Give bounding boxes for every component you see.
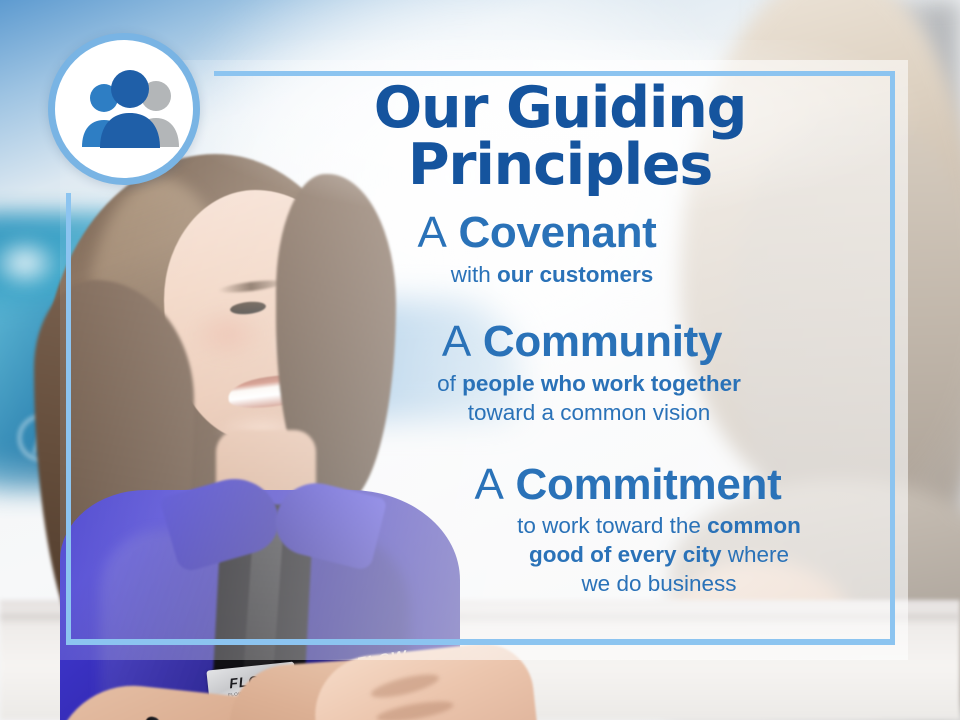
subtext-line: good of every city where <box>418 541 900 570</box>
subtext-plain: with <box>451 262 497 287</box>
people-badge <box>48 33 200 185</box>
principle-article: A <box>475 460 504 509</box>
subtext-line: of people who work together <box>278 370 900 399</box>
subtext-plain: where <box>722 542 790 567</box>
principle-keyword: Commitment <box>516 460 782 509</box>
principle-keyword: Covenant <box>458 208 656 257</box>
guiding-principles-graphic: FLOW FLOW AUTOMOTIVE FLOW <box>0 0 960 720</box>
subtext-line: toward a common vision <box>278 399 900 428</box>
subtext-emphasis: our customers <box>497 262 653 287</box>
subtext-plain: of <box>437 371 462 396</box>
principle-article: A <box>442 317 471 366</box>
text-content: Our Guiding Principles A Covenant with o… <box>200 80 900 640</box>
subtext-line: we do business <box>418 570 900 599</box>
principle-community: A Community of people who work together … <box>200 319 900 427</box>
principle-commitment: A Commitment to work toward the common g… <box>200 462 900 599</box>
subtext-emphasis: common <box>707 513 801 538</box>
principle-heading: A Covenant <box>200 210 874 257</box>
people-group-icon <box>77 68 183 148</box>
principle-subtext: to work toward the common good of every … <box>356 512 900 598</box>
principle-heading: A Community <box>264 319 900 366</box>
principle-keyword: Community <box>483 317 722 366</box>
principle-heading: A Commitment <box>356 462 900 509</box>
subtext-plain: to work toward the <box>517 513 707 538</box>
principle-article: A <box>417 208 446 257</box>
principle-subtext: with our customers <box>200 261 874 290</box>
subtext-emphasis: people who work together <box>462 371 741 396</box>
page-title: Our Guiding Principles <box>200 80 900 194</box>
principle-covenant: A Covenant with our customers <box>200 210 900 289</box>
principle-subtext: of people who work together toward a com… <box>264 370 900 428</box>
subtext-line: to work toward the common <box>418 512 900 541</box>
subtext-emphasis: good of every city <box>529 542 722 567</box>
